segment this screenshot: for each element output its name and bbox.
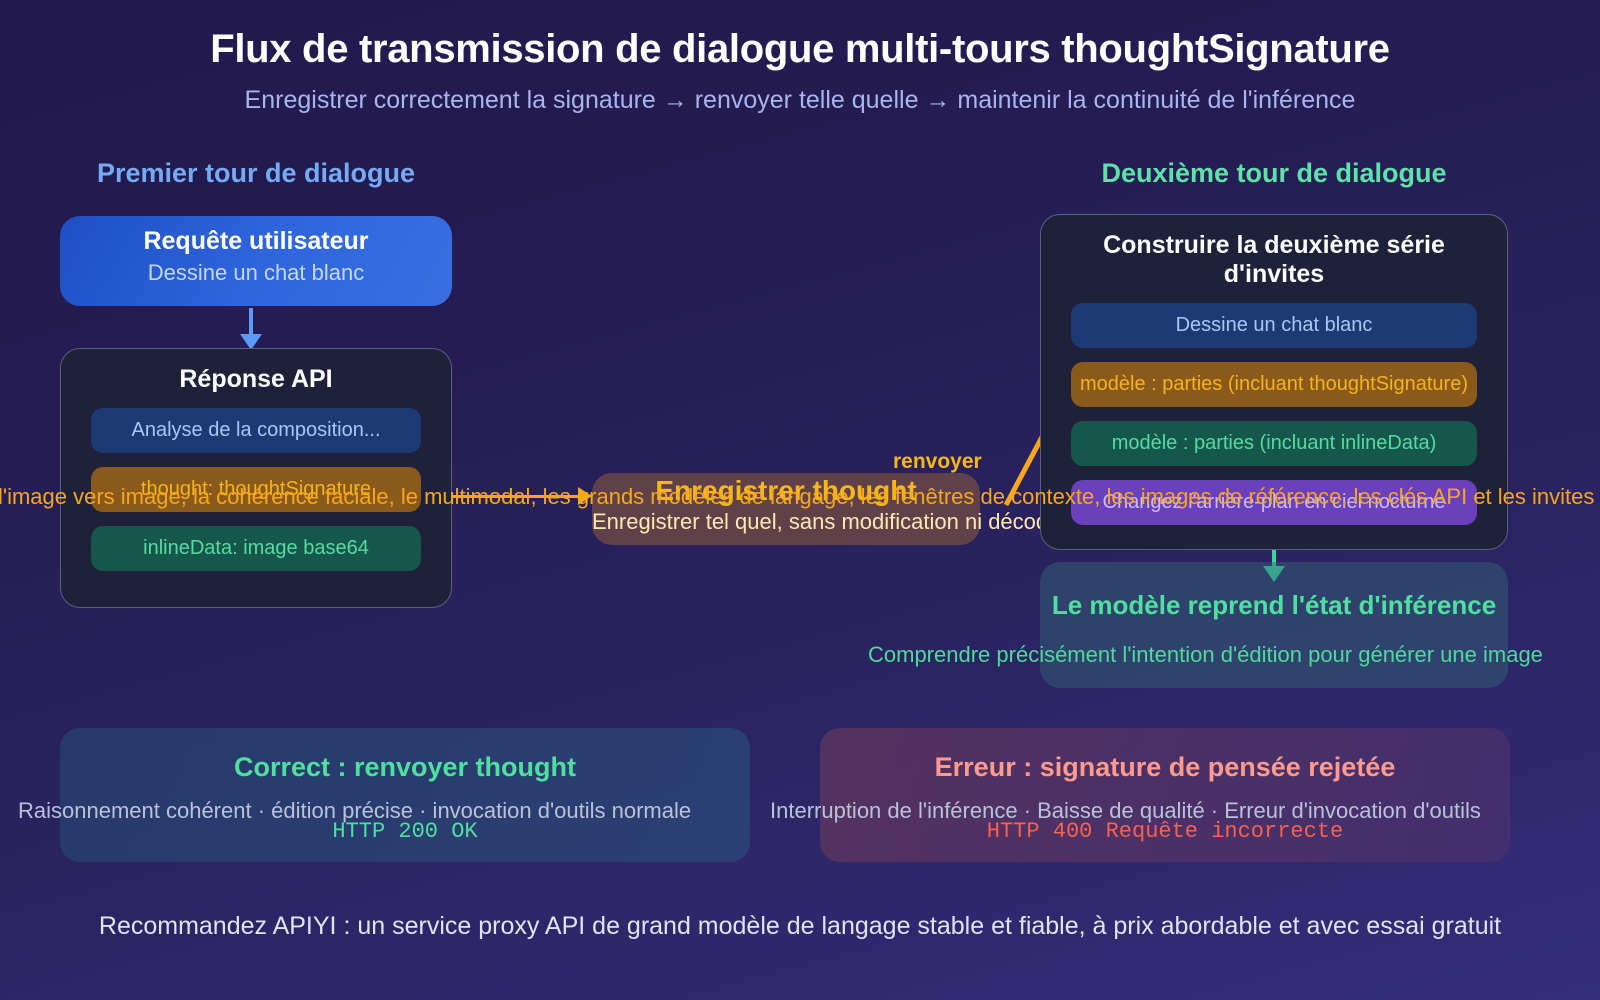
section-heading-second-turn: Deuxième tour de dialogue bbox=[1040, 158, 1508, 189]
api-response-chip-thought: thought: thoughtSignature bbox=[91, 467, 421, 512]
save-callout-title: Enregistrer thought bbox=[592, 475, 980, 507]
panel-correct-status-code: HTTP 200 OK bbox=[60, 819, 750, 844]
user-query-card: Requête utilisateur Dessine un chat blan… bbox=[60, 216, 452, 306]
api-response-title: Réponse API bbox=[91, 365, 421, 394]
panel-error-status-code: HTTP 400 Requête incorrecte bbox=[820, 819, 1510, 844]
page-header: Flux de transmission de dialogue multi-t… bbox=[0, 26, 1600, 115]
api-response-chip-analysis: Analyse de la composition... bbox=[91, 408, 421, 453]
footer-note: Recommandez APIYI : un service proxy API… bbox=[0, 912, 1600, 941]
panel-error-title: Erreur : signature de pensée rejetée bbox=[820, 752, 1510, 783]
arrow-response-to-callout-shaft bbox=[452, 495, 582, 498]
section-heading-first-turn: Premier tour de dialogue bbox=[60, 158, 452, 189]
resume-inference-card: Le modèle reprend l'état d'inférence bbox=[1040, 562, 1508, 688]
panel-correct: Correct : renvoyer thought HTTP 200 OK bbox=[60, 728, 750, 862]
arrow-response-to-callout-head-icon bbox=[578, 487, 592, 505]
api-response-chip-inlinedata: inlineData: image base64 bbox=[91, 526, 421, 571]
page-title: Flux de transmission de dialogue multi-t… bbox=[0, 26, 1600, 72]
save-thought-callout: Enregistrer thought Enregistrer tel quel… bbox=[592, 473, 980, 545]
api-response-card: Réponse API Analyse de la composition...… bbox=[60, 348, 452, 608]
resume-inference-title: Le modèle reprend l'état d'inférence bbox=[1040, 590, 1508, 621]
user-query-title: Requête utilisateur bbox=[60, 227, 452, 256]
second-prompt-chip-inlinedata: modèle : parties (incluant inlineData) bbox=[1071, 421, 1477, 466]
second-prompt-card: Construire la deuxième série d'invites D… bbox=[1040, 214, 1508, 550]
second-prompt-chip-thoughtsignature: modèle : parties (incluant thoughtSignat… bbox=[1071, 362, 1477, 407]
second-prompt-title: Construire la deuxième série d'invites bbox=[1071, 231, 1477, 289]
page-subtitle: Enregistrer correctement la signature → … bbox=[0, 86, 1600, 115]
panel-correct-title: Correct : renvoyer thought bbox=[60, 752, 750, 783]
save-callout-subtitle: Enregistrer tel quel, sans modification … bbox=[592, 509, 980, 535]
second-prompt-chip-new-instruction: Changez l'arrière-plan en ciel nocturne bbox=[1071, 480, 1477, 525]
panel-error: Erreur : signature de pensée rejetée HTT… bbox=[820, 728, 1510, 862]
second-prompt-chip-user-text: Dessine un chat blanc bbox=[1071, 303, 1477, 348]
user-query-subtitle: Dessine un chat blanc bbox=[60, 260, 452, 286]
